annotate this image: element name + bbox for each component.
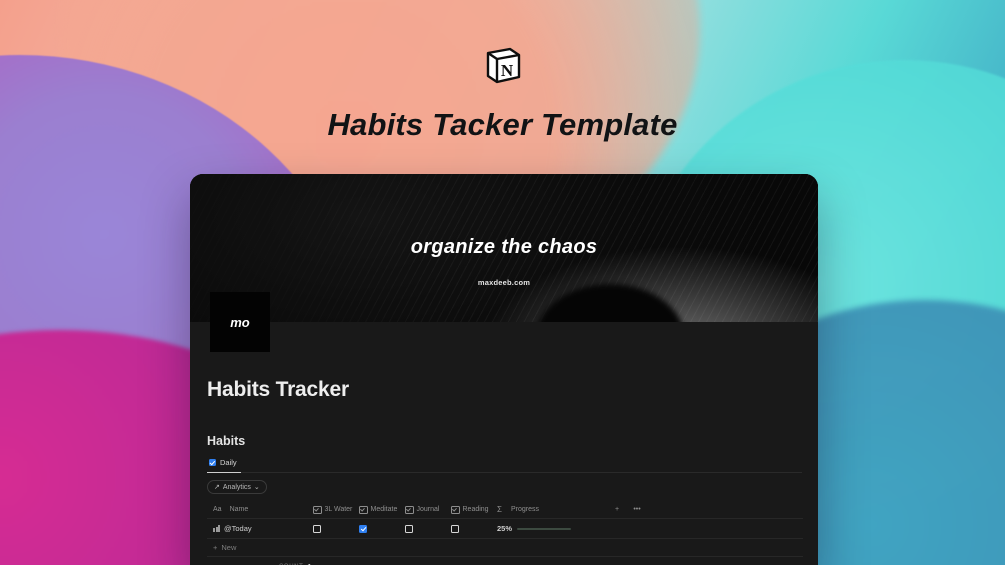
- column-header-progress[interactable]: Σ Progress: [497, 505, 607, 514]
- arrow-up-right-icon: ↗: [214, 483, 220, 491]
- habits-table: Aa Name 3L Water Meditate Journal: [207, 500, 803, 565]
- column-header-journal[interactable]: Journal: [405, 505, 451, 514]
- cell-water[interactable]: [313, 525, 359, 533]
- sigma-icon: Σ: [497, 505, 502, 514]
- column-header-reading[interactable]: Reading: [451, 505, 497, 514]
- notion-mockup-window: organize the chaos maxdeeb.com mo Habits…: [190, 174, 818, 565]
- column-header-water[interactable]: 3L Water: [313, 505, 359, 514]
- poster-stage: N Habits Tacker Template organize the ch…: [0, 0, 1005, 565]
- row-name-label: @Today: [224, 524, 252, 533]
- column-header-name[interactable]: Aa Name: [207, 506, 313, 513]
- chevron-down-icon: ⌄: [254, 483, 260, 491]
- avatar: mo: [210, 292, 270, 352]
- doc-title: Habits Tracker: [207, 378, 802, 402]
- banner-headline: organize the chaos: [190, 236, 818, 259]
- cell-meditate[interactable]: [359, 525, 405, 533]
- table-header-row: Aa Name 3L Water Meditate Journal: [207, 500, 803, 519]
- cell-reading[interactable]: [451, 525, 497, 533]
- new-row-button[interactable]: + New: [207, 539, 803, 557]
- checkbox-journal[interactable]: [405, 525, 413, 533]
- new-row-label: New: [221, 543, 236, 552]
- tab-daily[interactable]: Daily: [207, 456, 241, 473]
- database-title: Habits: [207, 434, 802, 448]
- table-more-menu-button[interactable]: •••: [627, 506, 647, 513]
- table-footer-count[interactable]: COUNT 1: [207, 557, 803, 565]
- poster-header: N Habits Tacker Template: [0, 0, 1005, 143]
- table-row[interactable]: @Today 25%: [207, 519, 803, 539]
- svg-text:N: N: [500, 61, 513, 80]
- progress-bar: [517, 528, 571, 530]
- notion-logo-icon: N: [483, 44, 523, 86]
- database-toolbar: ↗ Analytics ⌄: [207, 480, 802, 494]
- column-label: Reading: [463, 506, 489, 513]
- checkbox-water[interactable]: [313, 525, 321, 533]
- aa-text-icon: Aa: [213, 506, 222, 513]
- checkbox-icon: [209, 459, 216, 466]
- checkbox-icon: [313, 506, 322, 515]
- checkbox-icon: [359, 506, 368, 515]
- page-title: Habits Tacker Template: [0, 107, 1005, 143]
- checkbox-reading[interactable]: [451, 525, 459, 533]
- notion-page-body: Habits Tracker Habits Daily ↗ Analytics …: [190, 378, 818, 565]
- database-view-tabs: Daily: [207, 456, 802, 473]
- checkbox-meditate[interactable]: [359, 525, 367, 533]
- analytics-button[interactable]: ↗ Analytics ⌄: [207, 480, 267, 494]
- plus-icon: +: [213, 543, 217, 552]
- column-label: Meditate: [371, 506, 398, 513]
- tab-label: Daily: [220, 458, 237, 467]
- column-label: Name: [230, 506, 249, 513]
- cell-journal[interactable]: [405, 525, 451, 533]
- column-label: 3L Water: [325, 506, 353, 513]
- column-label: Progress: [511, 506, 539, 513]
- page-icon: [213, 525, 220, 532]
- analytics-label: Analytics: [223, 484, 251, 491]
- cell-progress: 25%: [497, 524, 607, 533]
- column-label: Journal: [417, 506, 440, 513]
- add-column-button[interactable]: +: [607, 506, 627, 513]
- page-cover-banner: organize the chaos maxdeeb.com: [190, 174, 818, 322]
- cell-name[interactable]: @Today: [207, 524, 313, 533]
- checkbox-icon: [451, 506, 460, 515]
- progress-percent-label: 25%: [497, 524, 512, 533]
- column-header-meditate[interactable]: Meditate: [359, 505, 405, 514]
- banner-url: maxdeeb.com: [190, 278, 818, 287]
- checkbox-icon: [405, 506, 414, 515]
